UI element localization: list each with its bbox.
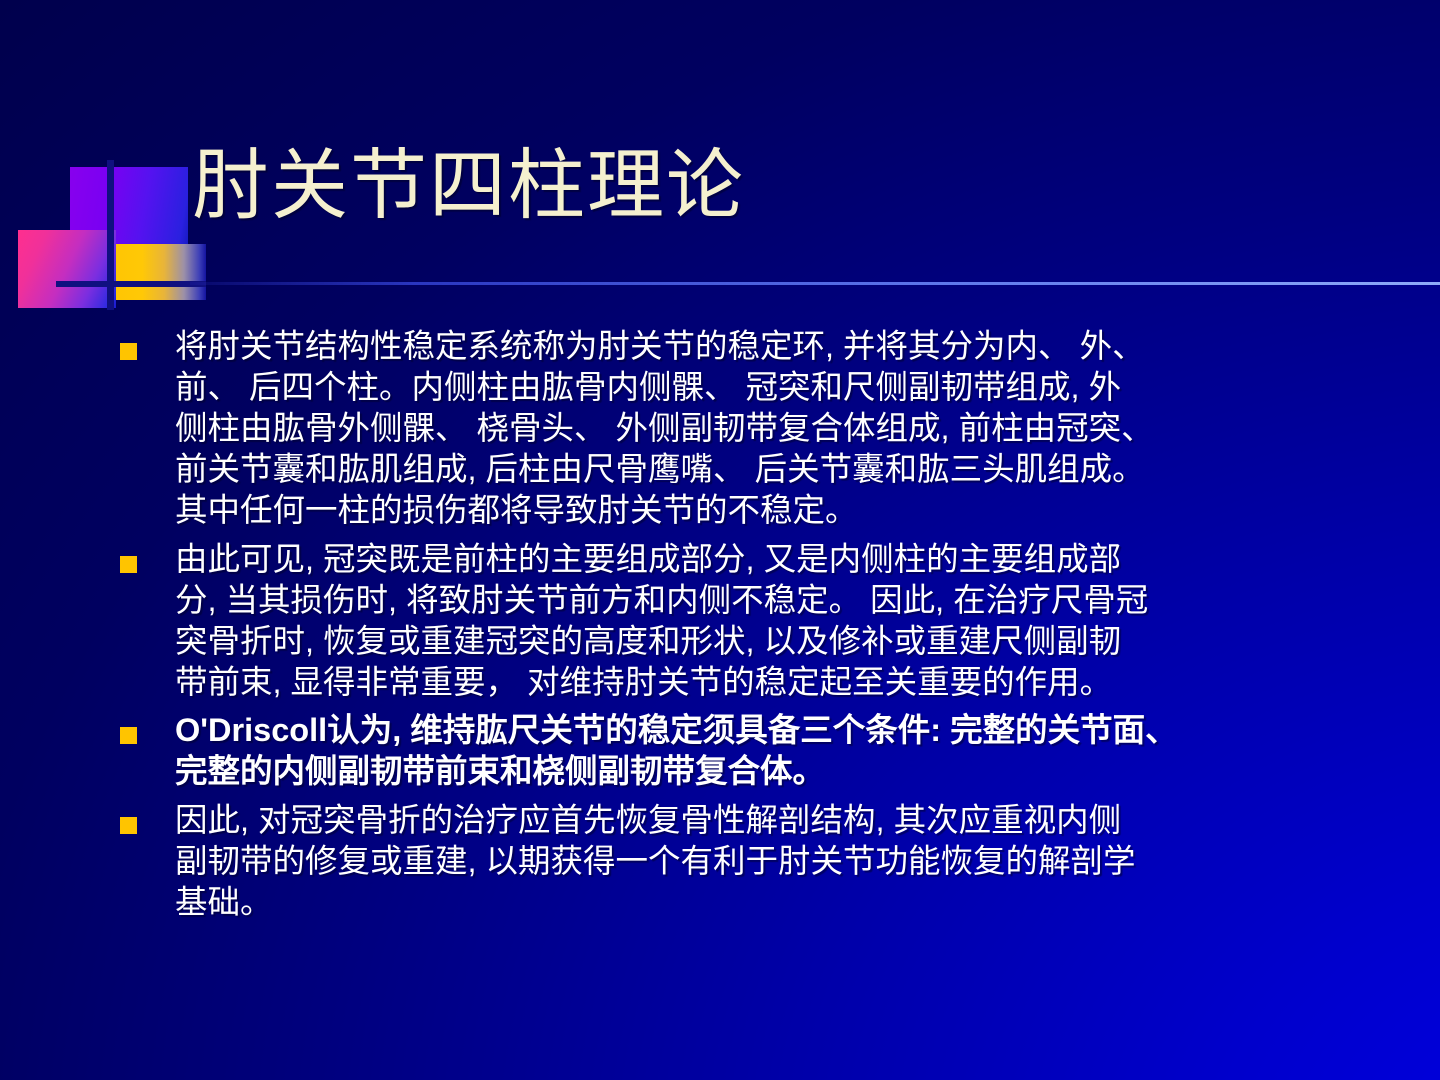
presentation-slide: 肘关节四柱理论 将肘关节结构性稳定系统称为肘关节的稳定环, 并将其分为内、 外、…: [0, 0, 1440, 1080]
bullet-paragraph: 由此可见, 冠突既是前柱的主要组成部分, 又是内侧柱的主要组成部分, 当其损伤时…: [175, 539, 1390, 703]
bullet-line: 其中任何一柱的损伤都将导致肘关节的不稳定。: [175, 490, 1390, 531]
bullet-paragraph: 将肘关节结构性稳定系统称为肘关节的稳定环, 并将其分为内、 外、前、 后四个柱。…: [175, 326, 1390, 531]
logo-pink-square: [18, 230, 116, 308]
bullet-line: 前、 后四个柱。内侧柱由肱骨内侧髁、 冠突和尺侧副韧带组成, 外: [175, 367, 1390, 408]
bullet-line: 分, 当其损伤时, 将致肘关节前方和内侧不稳定。 因此, 在治疗尺骨冠: [175, 580, 1390, 621]
slide-body: 将肘关节结构性稳定系统称为肘关节的稳定环, 并将其分为内、 外、前、 后四个柱。…: [120, 326, 1390, 931]
bullet-item: 因此, 对冠突骨折的治疗应首先恢复骨性解剖结构, 其次应重视内侧副韧带的修复或重…: [120, 800, 1390, 923]
logo-horizontal-line: [56, 281, 206, 287]
bullet-line: 前关节囊和肱肌组成, 后柱由尺骨鹰嘴、 后关节囊和肱三头肌组成。: [175, 449, 1390, 490]
bullet-line: 完整的内侧副韧带前束和桡侧副韧带复合体。: [175, 751, 1390, 792]
bullet-square-icon: [120, 556, 137, 573]
bullet-item: O'Driscoll认为, 维持肱尺关节的稳定须具备三个条件: 完整的关节面、完…: [120, 710, 1390, 792]
bullet-line: 基础。: [175, 882, 1390, 923]
logo-vertical-line: [107, 160, 114, 310]
bullet-paragraph: 因此, 对冠突骨折的治疗应首先恢复骨性解剖结构, 其次应重视内侧副韧带的修复或重…: [175, 800, 1390, 923]
slide-title: 肘关节四柱理论: [192, 148, 745, 225]
bullet-line: 突骨折时, 恢复或重建冠突的高度和形状, 以及修补或重建尺侧副韧: [175, 621, 1390, 662]
bullet-line: 副韧带的修复或重建, 以期获得一个有利于肘关节功能恢复的解剖学: [175, 841, 1390, 882]
bullet-line: 由此可见, 冠突既是前柱的主要组成部分, 又是内侧柱的主要组成部: [175, 539, 1390, 580]
bullet-square-icon: [120, 817, 137, 834]
bullet-item: 将肘关节结构性稳定系统称为肘关节的稳定环, 并将其分为内、 外、前、 后四个柱。…: [120, 326, 1390, 531]
bullet-line: 将肘关节结构性稳定系统称为肘关节的稳定环, 并将其分为内、 外、: [175, 326, 1390, 367]
bullet-line: O'Driscoll认为, 维持肱尺关节的稳定须具备三个条件: 完整的关节面、: [175, 710, 1390, 751]
decorative-logo: [18, 160, 208, 300]
bullet-item: 由此可见, 冠突既是前柱的主要组成部分, 又是内侧柱的主要组成部分, 当其损伤时…: [120, 539, 1390, 703]
bullet-square-icon: [120, 727, 137, 744]
bullet-line: 侧柱由肱骨外侧髁、 桡骨头、 外侧副韧带复合体组成, 前柱由冠突、: [175, 408, 1390, 449]
title-divider: [190, 282, 1440, 285]
bullet-paragraph: O'Driscoll认为, 维持肱尺关节的稳定须具备三个条件: 完整的关节面、完…: [175, 710, 1390, 792]
bullet-line: 因此, 对冠突骨折的治疗应首先恢复骨性解剖结构, 其次应重视内侧: [175, 800, 1390, 841]
bullet-square-icon: [120, 343, 137, 360]
bullet-line: 带前束, 显得非常重要， 对维持肘关节的稳定起至关重要的作用。: [175, 662, 1390, 703]
